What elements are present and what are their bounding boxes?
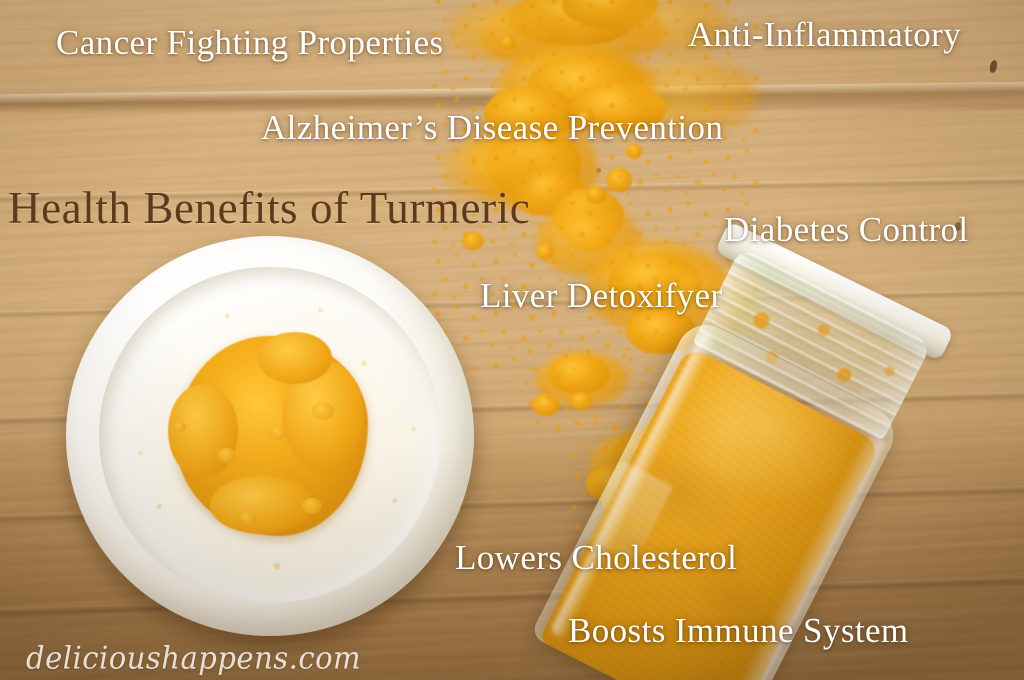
benefit-label-liver-detoxifyer: Liver Detoxifyer xyxy=(480,278,723,313)
benefit-label-boosts-immune-system: Boosts Immune System xyxy=(568,613,909,648)
benefit-label-anti-inflammatory: Anti-Inflammatory xyxy=(688,17,961,52)
bowl-interior xyxy=(99,267,441,603)
turmeric-health-benefits-poster: Cancer Fighting Properties Anti-Inflamma… xyxy=(0,0,1024,680)
page-title: Health Benefits of Turmeric xyxy=(8,186,530,231)
benefit-label-diabetes-control: Diabetes Control xyxy=(724,212,969,247)
benefit-label-cancer-fighting-properties: Cancer Fighting Properties xyxy=(56,25,444,60)
site-watermark: delicioushappens.com xyxy=(26,640,361,676)
white-bowl xyxy=(66,236,478,644)
benefit-label-alzheimers-disease-prevention: Alzheimer’s Disease Prevention xyxy=(261,110,723,145)
benefit-label-lowers-cholesterol: Lowers Cholesterol xyxy=(455,540,737,575)
